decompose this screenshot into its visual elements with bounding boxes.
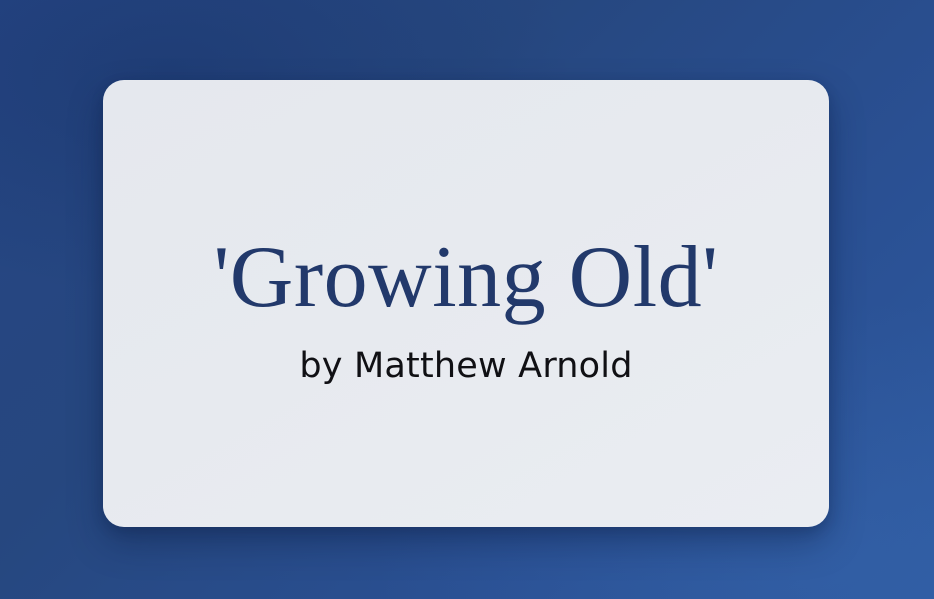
title-card: 'Growing Old' by Matthew Arnold: [103, 80, 829, 527]
slide-background: 'Growing Old' by Matthew Arnold: [0, 0, 934, 599]
poem-title: 'Growing Old': [213, 232, 718, 324]
poem-author: by Matthew Arnold: [299, 345, 632, 387]
title-card-content: 'Growing Old' by Matthew Arnold: [103, 232, 829, 386]
